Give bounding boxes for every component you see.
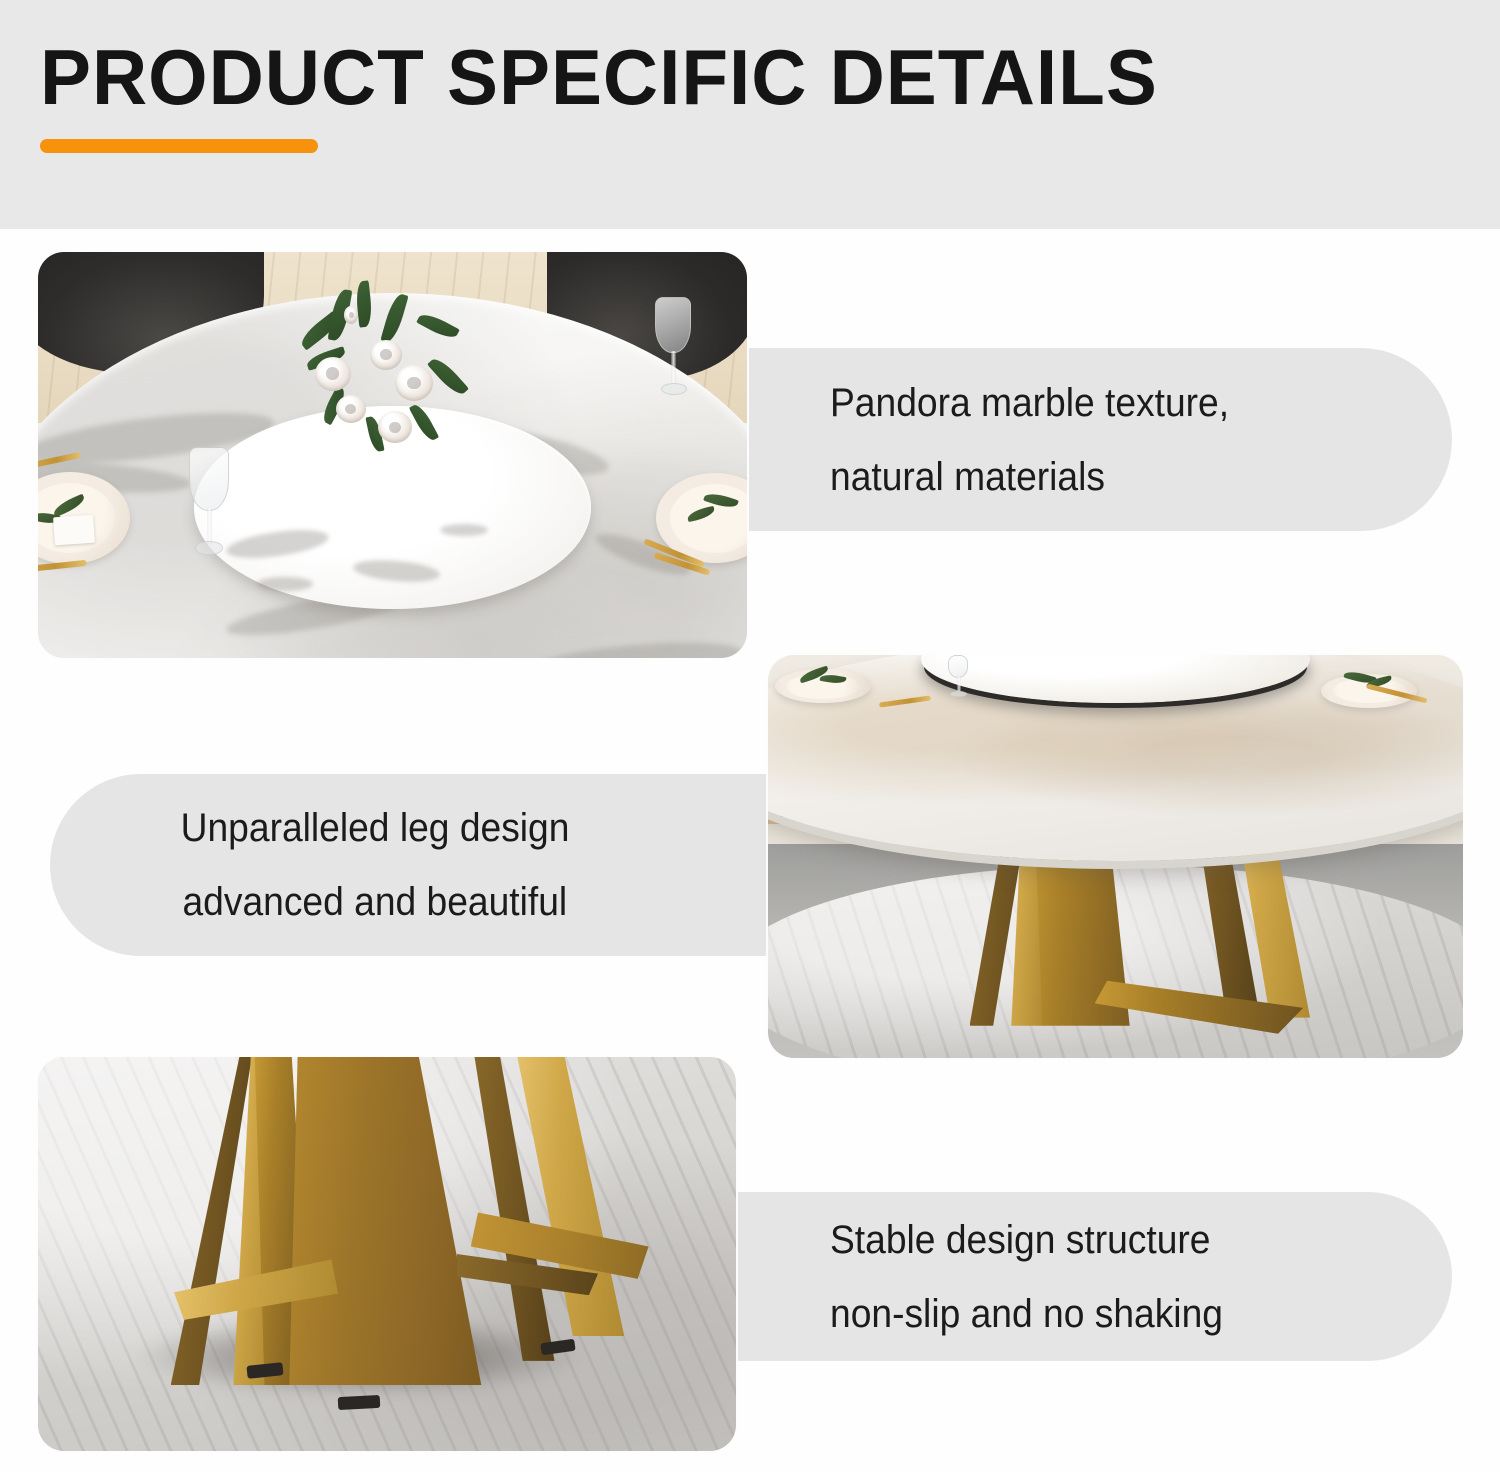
place-setting-right xyxy=(1310,667,1422,713)
caption-line: non-slip and no shaking xyxy=(830,1277,1223,1351)
caption-line: Unparalleled leg design xyxy=(181,791,570,865)
flower-bouquet-centerpiece xyxy=(293,276,506,487)
caption-pill-stability: Stable design structure non-slip and no … xyxy=(700,1192,1452,1361)
title-accent-bar xyxy=(40,139,318,153)
caption-pill-marble: Pandora marble texture, natural material… xyxy=(700,348,1452,531)
caption-pill-legs: Unparalleled leg design advanced and bea… xyxy=(50,774,800,956)
product-photo-leg-closeup xyxy=(38,1057,736,1451)
wine-glass-right xyxy=(648,297,702,397)
place-setting-left xyxy=(775,663,883,709)
caption-line: advanced and beautiful xyxy=(183,865,568,939)
product-detail-infographic: PRODUCT SPECIFIC DETAILS Pandora marble … xyxy=(0,0,1500,1472)
caption-line: natural materials xyxy=(830,440,1105,514)
gold-table-legs xyxy=(38,1057,736,1451)
page-title: PRODUCT SPECIFIC DETAILS xyxy=(40,34,1158,120)
place-setting-right xyxy=(648,471,747,581)
non-slip-foot xyxy=(338,1395,381,1410)
wine-glass-front xyxy=(180,447,240,557)
caption-line: Pandora marble texture, xyxy=(830,366,1229,440)
place-setting-left xyxy=(38,467,150,577)
wine-glass xyxy=(942,655,976,699)
product-photo-marble-tabletop xyxy=(38,252,747,658)
product-photo-table-base-room: THE AMERICAN DESIGN BOOK THE AMERICAN MO… xyxy=(768,655,1463,1058)
caption-line: Stable design structure xyxy=(830,1203,1210,1277)
